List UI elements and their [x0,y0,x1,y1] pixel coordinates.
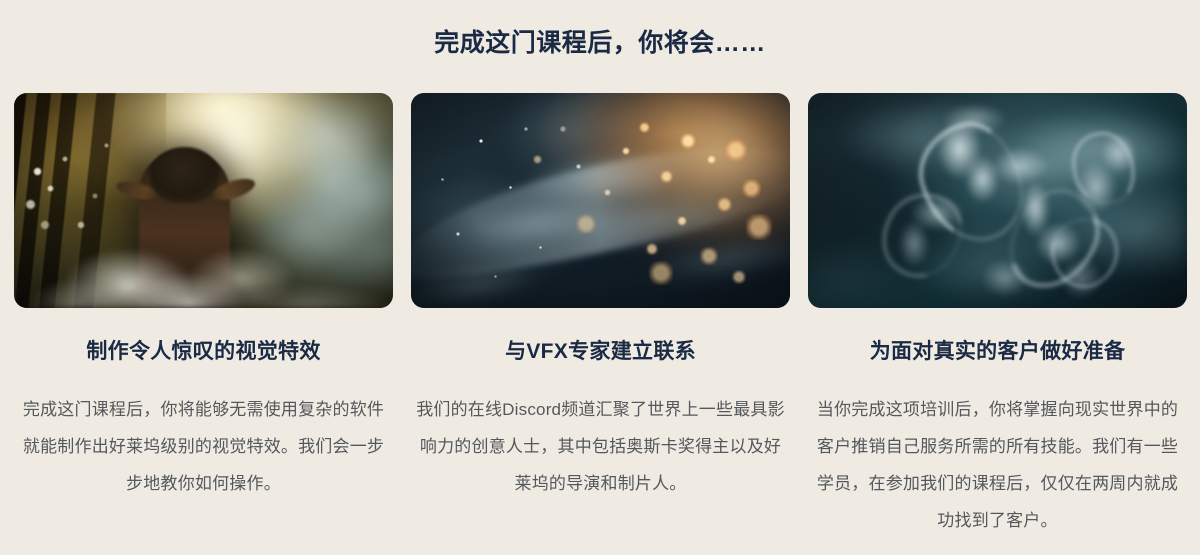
image-vignette [808,93,1187,308]
benefit-card-2: 与VFX专家建立联系 我们的在线Discord频道汇聚了世界上一些最具影响力的创… [411,93,790,539]
benefit-card-title: 制作令人惊叹的视觉特效 [86,338,320,365]
section-heading: 完成这门课程后，你将会…… [0,28,1200,59]
course-benefits-section: 完成这门课程后，你将会…… 制作令人惊叹的视觉特效 完成这门课程后，你将能够无需… [0,0,1200,555]
image-vignette [14,93,393,308]
vfx-teal-smoke-image [808,93,1187,308]
vfx-embers-smoke-image [411,93,790,308]
benefit-cards-row: 制作令人惊叹的视觉特效 完成这门课程后，你将能够无需使用复杂的软件就能制作出好莱… [14,93,1186,539]
benefit-card-3: 为面对真实的客户做好准备 当你完成这项培训后，你将掌握向现实世界中的客户推销自己… [808,93,1187,539]
benefit-card-title: 为面对真实的客户做好准备 [870,338,1126,365]
benefit-card-body: 我们的在线Discord频道汇聚了世界上一些最具影响力的创意人士，其中包括奥斯卡… [415,391,787,502]
benefit-card-body: 完成这门课程后，你将能够无需使用复杂的软件就能制作出好莱坞级别的视觉特效。我们会… [18,391,390,502]
benefit-card-title: 与VFX专家建立联系 [505,338,696,365]
image-vignette [411,93,790,308]
benefit-card-body: 当你完成这项培训后，你将掌握向现实世界中的客户推销自己服务所需的所有技能。我们有… [812,391,1184,539]
vfx-water-figure-image [14,93,393,308]
benefit-card-1: 制作令人惊叹的视觉特效 完成这门课程后，你将能够无需使用复杂的软件就能制作出好莱… [14,93,393,539]
